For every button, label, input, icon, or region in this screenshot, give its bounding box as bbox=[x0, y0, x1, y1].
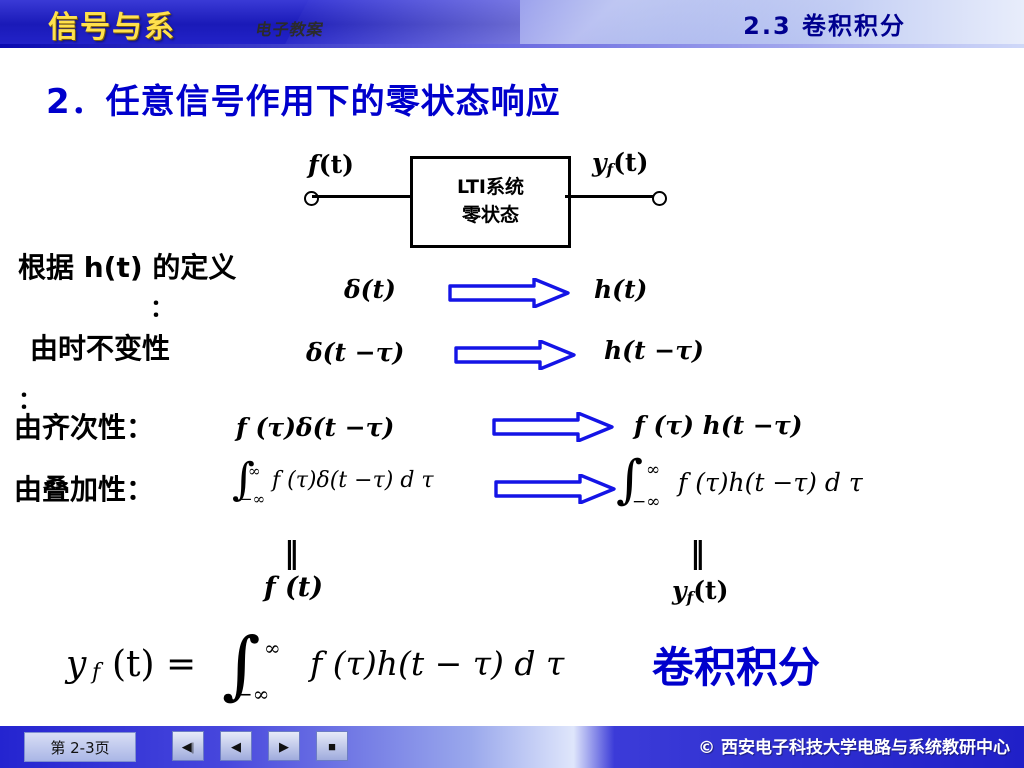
final-body: f (τ)h(t − τ) d τ bbox=[310, 644, 564, 683]
row4-left-upper-limit: ∞ bbox=[248, 462, 261, 480]
input-f-arg: (t) bbox=[319, 150, 354, 179]
row4-left-body: f (τ)δ(t −τ) d τ bbox=[272, 468, 434, 493]
row3-lead-text: 由齐次性： bbox=[14, 406, 154, 446]
final-lower-limit: −∞ bbox=[236, 682, 269, 706]
page-indicator: 第 2-3页 bbox=[24, 732, 136, 762]
row2-implies-arrow-icon bbox=[454, 340, 576, 370]
left-result-expression: f (t) bbox=[264, 572, 323, 603]
system-box: LTI系统 零状态 bbox=[410, 156, 571, 248]
section-title: 2.3 卷积积分 bbox=[743, 6, 906, 41]
row3-right-expression: f (τ) h(t −τ) bbox=[634, 411, 803, 440]
page-title: 2．任意信号作用下的零状态响应 bbox=[46, 74, 561, 123]
prev-icon: ◀ bbox=[231, 740, 241, 753]
right-result-expression: yf(t) bbox=[672, 576, 728, 607]
row1-implies-arrow-icon bbox=[448, 278, 570, 308]
result-y-arg: (t) bbox=[693, 576, 728, 605]
navigation-bar[interactable]: ◀| ◀ ▶ ■ bbox=[172, 730, 348, 762]
header-divider bbox=[0, 44, 1024, 48]
output-wire bbox=[565, 195, 655, 198]
row4-implies-arrow-icon bbox=[494, 474, 616, 504]
logo-subtitle: 电子教案 bbox=[254, 16, 326, 40]
system-box-line1: LTI系统 bbox=[457, 174, 524, 202]
row1-colon-mark: ： bbox=[150, 288, 174, 323]
nav-first-button[interactable]: ◀| bbox=[172, 731, 204, 761]
stop-icon: ■ bbox=[328, 740, 336, 753]
diagram-input-label: f(t) bbox=[308, 150, 354, 179]
row1-right-expression: h(t) bbox=[594, 275, 647, 304]
row4-left-lower-limit: −∞ bbox=[240, 490, 265, 508]
lti-block-diagram: f(t) LTI系统 零状态 yf(t) bbox=[280, 142, 700, 252]
final-upper-limit: ∞ bbox=[264, 636, 281, 660]
left-equivalence-bars: ‖ bbox=[284, 536, 299, 571]
row4-right-body: f (τ)h(t −τ) d τ bbox=[678, 468, 863, 497]
output-terminal-node bbox=[652, 191, 667, 206]
final-lhs-y: y bbox=[66, 644, 86, 685]
copyright-text: © 西安电子科技大学电路与系统教研中心 bbox=[698, 733, 1010, 758]
final-label: 卷积积分 bbox=[652, 634, 820, 695]
row2-right-expression: h(t −τ) bbox=[604, 336, 704, 365]
input-wire bbox=[312, 195, 410, 198]
logo-title: 信号与系 bbox=[48, 2, 176, 46]
row4-right-lower-limit: −∞ bbox=[632, 492, 660, 512]
row4-right-upper-limit: ∞ bbox=[646, 460, 660, 480]
output-y-arg: (t) bbox=[613, 148, 648, 177]
nav-next-button[interactable]: ▶ bbox=[268, 731, 300, 761]
row4-lead-text: 由叠加性： bbox=[14, 468, 154, 508]
row3-left-expression: f (τ)δ(t −τ) bbox=[236, 413, 394, 442]
output-y-symbol: y bbox=[592, 148, 607, 177]
right-equivalence-bars: ‖ bbox=[690, 536, 705, 571]
system-box-line2: 零状态 bbox=[462, 202, 519, 230]
next-icon: ▶ bbox=[279, 740, 289, 753]
final-lhs-arg: (t) = bbox=[112, 644, 196, 685]
input-f-symbol: f bbox=[308, 150, 319, 179]
nav-stop-button[interactable]: ■ bbox=[316, 731, 348, 761]
nav-prev-button[interactable]: ◀ bbox=[220, 731, 252, 761]
row2-lead-text: 由时不变性 bbox=[30, 327, 170, 367]
header-swoosh-decoration bbox=[284, 0, 1024, 44]
final-lhs-subscript: f bbox=[92, 660, 100, 685]
row1-left-expression: δ(t) bbox=[344, 275, 396, 304]
diagram-output-label: yf(t) bbox=[592, 148, 648, 179]
first-icon: ◀| bbox=[182, 740, 195, 753]
row1-lead-text: 根据 h(t) 的定义 bbox=[18, 246, 236, 286]
row2-left-expression: δ(t −τ) bbox=[306, 338, 404, 367]
row3-implies-arrow-icon bbox=[492, 412, 614, 442]
input-terminal-node bbox=[304, 191, 319, 206]
result-y-symbol: y bbox=[672, 576, 687, 605]
